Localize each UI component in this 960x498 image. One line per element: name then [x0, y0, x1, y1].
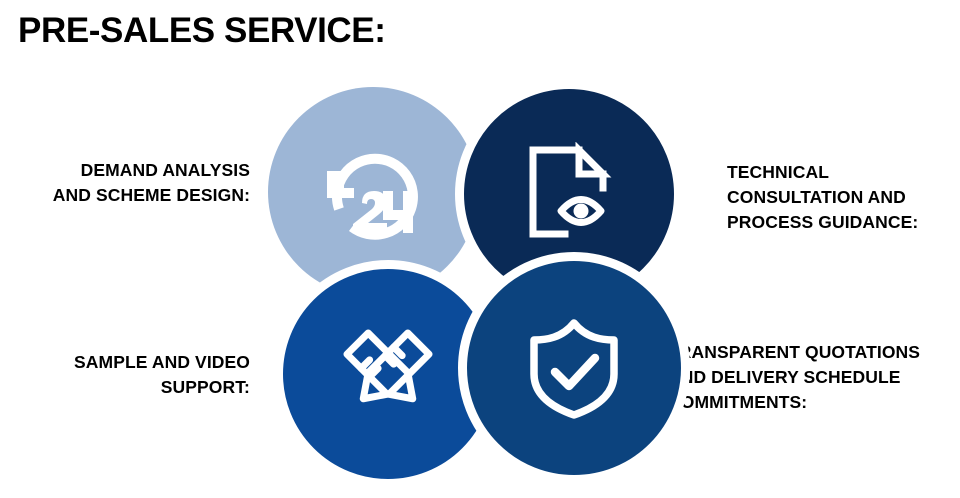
label-transparent-quotations: TRANSPARENT QUOTATIONS AND DELIVERY SCHE… — [668, 340, 958, 415]
infographic-canvas: PRE-SALES SERVICE: — [0, 0, 960, 498]
check-mark-icon — [555, 358, 595, 386]
label-line: DEMAND ANALYSIS — [10, 158, 250, 183]
label-line: CONSULTATION AND — [727, 185, 952, 210]
label-line: SUPPORT: — [10, 375, 250, 400]
label-line: AND DELIVERY SCHEDULE — [668, 365, 958, 390]
label-line: COMMITMENTS: — [668, 390, 958, 415]
label-demand-analysis: DEMAND ANALYSIS AND SCHEME DESIGN: — [10, 158, 250, 208]
page-title: PRE-SALES SERVICE: — [18, 8, 386, 54]
shield-check-icon — [524, 316, 624, 420]
document-eye-review-icon — [517, 142, 621, 246]
label-line: AND SCHEME DESIGN: — [10, 183, 250, 208]
label-line: TRANSPARENT QUOTATIONS — [668, 340, 958, 365]
icon-wrap-transparent-quotations — [467, 261, 681, 475]
crossed-pens-icon — [335, 321, 441, 427]
label-line: TECHNICAL — [727, 160, 952, 185]
clock-24-rotate-arrow-icon — [319, 141, 427, 243]
icon-badge-24 — [353, 191, 413, 233]
label-sample-video-support: SAMPLE AND VIDEO SUPPORT: — [10, 350, 250, 400]
circle-transparent-quotations[interactable] — [458, 252, 690, 484]
eye-icon — [561, 200, 601, 223]
label-line: PROCESS GUIDANCE: — [727, 210, 952, 235]
label-technical-consultation: TECHNICAL CONSULTATION AND PROCESS GUIDA… — [727, 160, 952, 235]
circle-cluster — [265, 80, 690, 480]
label-line: SAMPLE AND VIDEO — [10, 350, 250, 375]
shield-outline-icon — [534, 323, 614, 415]
